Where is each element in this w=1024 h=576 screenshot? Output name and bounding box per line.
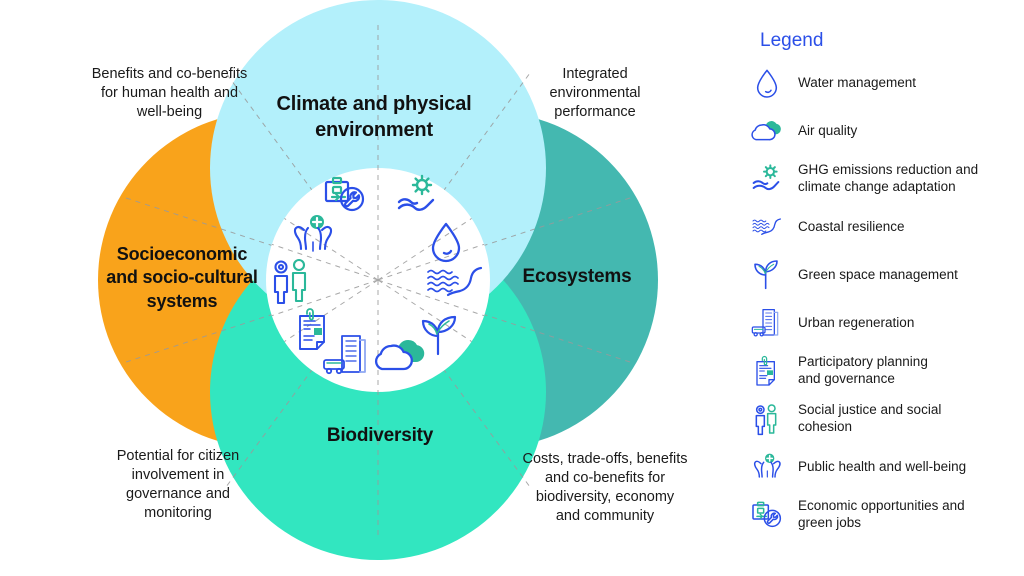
legend-label: Coastal resilience <box>798 219 905 236</box>
circle-label-climate: Climate and physical environment <box>240 92 508 143</box>
cloud-air-quality-icon <box>744 114 790 148</box>
legend-label: Public health and well-being <box>798 459 966 476</box>
center-icon-air-quality[interactable] <box>372 330 430 374</box>
venn-diagram: Climate and physical environment Socioec… <box>0 0 720 576</box>
legend-item-participatory-planning[interactable]: Participatory planning and governance <box>744 354 1016 388</box>
legend-item-public-health[interactable]: Public health and well-being <box>744 450 1016 484</box>
waves-coast-icon <box>744 210 790 244</box>
legend-label: Social justice and social cohesion <box>798 402 941 436</box>
caption-bottom-right: Costs, trade-offs, benefits and co-benef… <box>505 450 705 527</box>
legend-item-air-quality[interactable]: Air quality <box>744 114 1016 148</box>
legend-label: Water management <box>798 75 916 92</box>
legend-item-urban-regeneration[interactable]: Urban regeneration <box>744 306 1016 340</box>
legend-title: Legend <box>760 30 1016 52</box>
legend-item-coastal-resilience[interactable]: Coastal resilience <box>744 210 1016 244</box>
circle-label-biodiversity: Biodiversity <box>292 424 468 449</box>
legend-label: Air quality <box>798 123 857 140</box>
briefcase-wrench-icon <box>744 498 790 532</box>
leaf-sprout-icon <box>744 258 790 292</box>
clipboard-document-icon <box>744 354 790 388</box>
legend-label: Green space management <box>798 267 958 284</box>
diagram-canvas: Climate and physical environment Socioec… <box>0 0 1024 576</box>
caption-bottom-left: Potential for citizen involvement in gov… <box>78 447 278 524</box>
legend-label: GHG emissions reduction and climate chan… <box>798 162 978 196</box>
center-icon-public-health[interactable] <box>286 212 340 260</box>
gear-hand-icon <box>744 162 790 196</box>
legend-label: Economic opportunities and green jobs <box>798 498 965 532</box>
legend-label: Urban regeneration <box>798 315 914 332</box>
legend-item-green-space[interactable]: Green space management <box>744 258 1016 292</box>
center-icon-ghg-emissions[interactable] <box>392 172 440 220</box>
legend-item-social-justice[interactable]: Social justice and social cohesion <box>744 402 1016 436</box>
legend-item-economic-opportunities[interactable]: Economic opportunities and green jobs <box>744 498 1016 532</box>
caption-top-right: Integrated environmental performance <box>520 65 670 122</box>
circle-label-ecosystems: Ecosystems <box>492 265 662 290</box>
hands-plus-icon <box>744 450 790 484</box>
legend-item-water-management[interactable]: Water management <box>744 66 1016 100</box>
center-icon-coastal-resilience[interactable] <box>424 258 486 306</box>
two-people-icon <box>744 402 790 436</box>
circle-label-socioeconomic: Socioeconomic and socio-cultural systems <box>86 243 278 313</box>
caption-top-left: Benefits and co-benefits for human healt… <box>62 65 277 122</box>
legend-panel: Legend Water management Air quality <box>744 30 1016 546</box>
legend-item-ghg-emissions[interactable]: GHG emissions reduction and climate chan… <box>744 162 1016 196</box>
center-icon-participatory-planning[interactable] <box>290 306 338 354</box>
building-bus-icon <box>744 306 790 340</box>
legend-label: Participatory planning and governance <box>798 354 928 388</box>
water-drop-icon <box>744 66 790 100</box>
center-icon-social-justice[interactable] <box>266 256 318 304</box>
